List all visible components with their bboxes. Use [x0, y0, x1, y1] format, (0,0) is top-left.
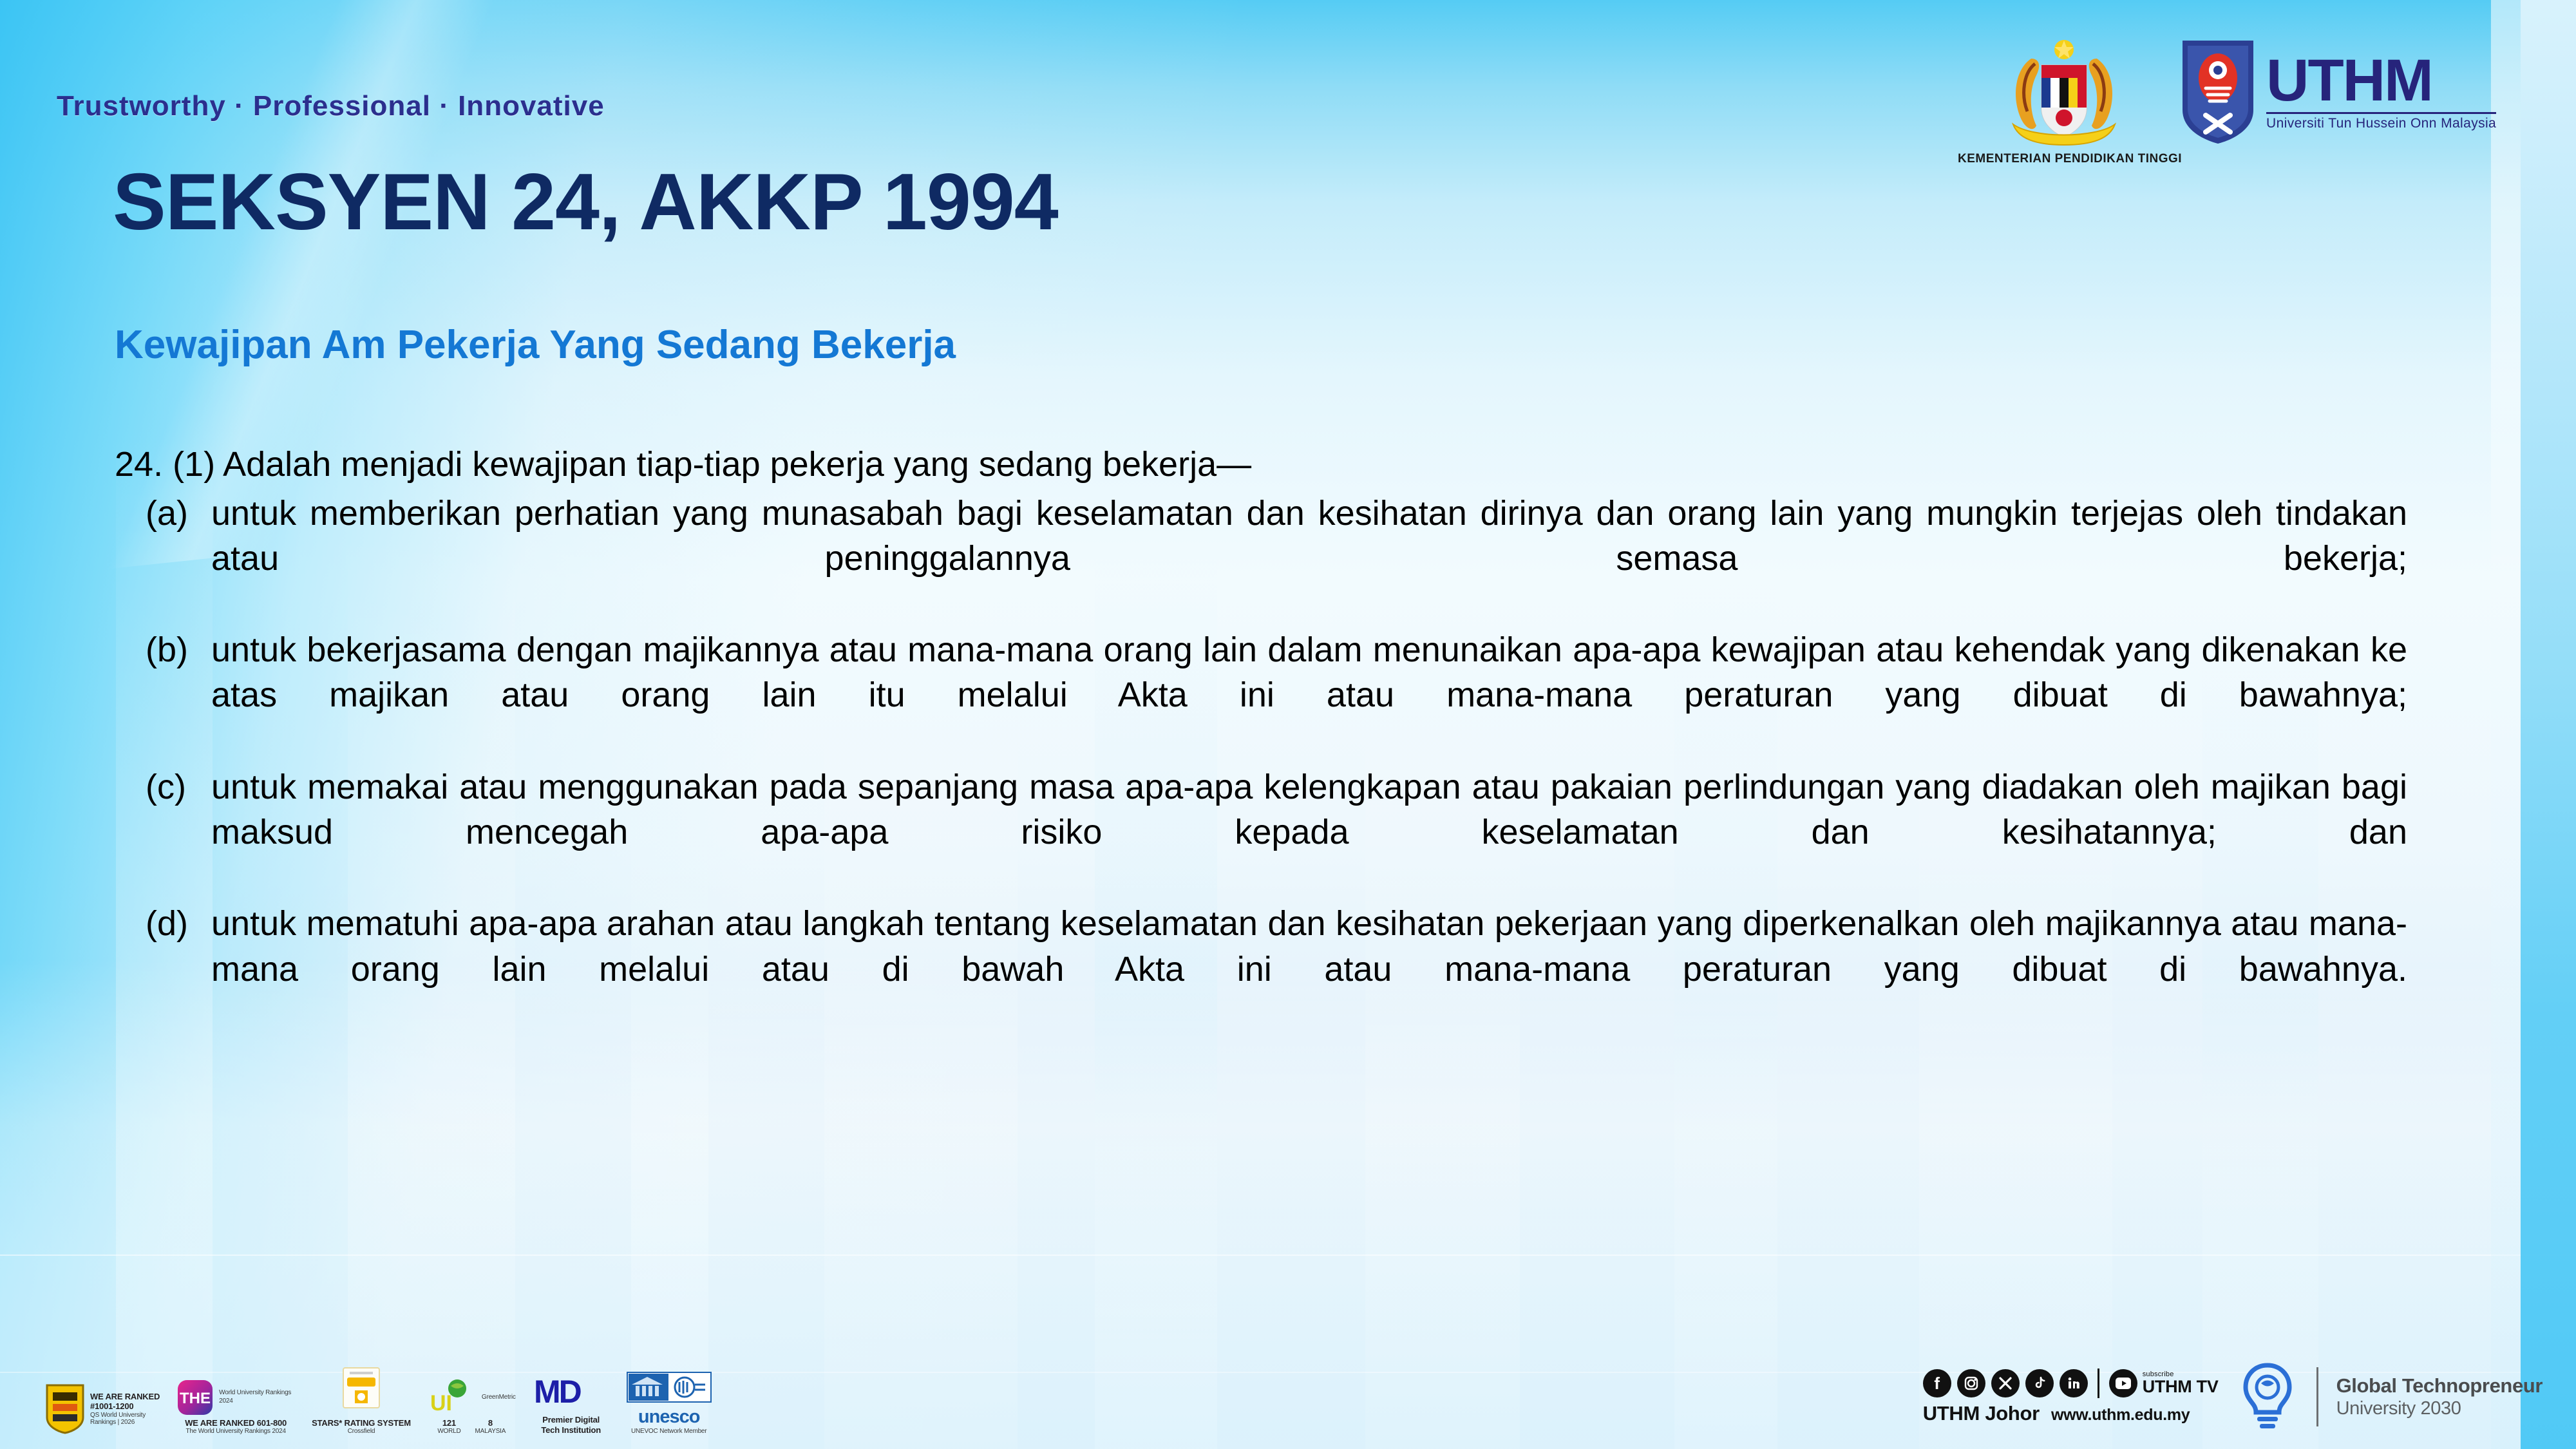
- stars-rating-icon: [341, 1365, 382, 1413]
- uthm-tv-link[interactable]: subscribe UTHM TV: [2109, 1369, 2219, 1397]
- greenmetric-label-world: WORLD: [437, 1428, 460, 1435]
- clause-lead: 24. (1) Adalah menjadi kewajipan tiap-ti…: [115, 444, 2407, 486]
- stars-line2: Crossfield: [312, 1428, 411, 1435]
- footer-social-group: f subscr: [1923, 1361, 2543, 1432]
- stars-rating-badge: STARS* RATING SYSTEM Crossfield: [312, 1365, 411, 1435]
- svg-text:MD: MD: [534, 1374, 582, 1410]
- facebook-icon[interactable]: f: [1923, 1369, 1951, 1397]
- clause-marker: (a): [115, 491, 211, 627]
- uthm-logo: UTHM Universiti Tun Hussein Onn Malaysia: [2180, 38, 2496, 146]
- qs-line4: Rankings | 2026: [90, 1419, 160, 1426]
- technopreneur-caption: Global Technopreneur University 2030: [2336, 1374, 2543, 1420]
- malaysia-coat-of-arms-logo: KEMENTERIAN PENDIDIKAN TINGGI: [1958, 35, 2170, 166]
- qs-shield-icon: [45, 1383, 85, 1435]
- footer-divider: [2098, 1368, 2099, 1398]
- clause-marker: (c): [115, 764, 211, 900]
- instagram-icon[interactable]: [1957, 1369, 1985, 1397]
- mdec-premier-digital-badge: MD Premier Digital Tech Institution: [533, 1374, 610, 1435]
- mdec-line2: Tech Institution: [533, 1425, 610, 1435]
- greenmetric-rank-world: 121: [437, 1418, 460, 1428]
- unesco-emblem-icon: [627, 1372, 712, 1403]
- stars-line1: STARS* RATING SYSTEM: [312, 1418, 411, 1428]
- mdec-line1: Premier Digital: [533, 1415, 610, 1425]
- footer-accreditation-badges: WE ARE RANKED #1001-1200 QS World Univer…: [45, 1365, 712, 1435]
- clause-text: untuk bekerjasama dengan majikannya atau…: [211, 627, 2407, 763]
- tiktok-icon[interactable]: [2025, 1369, 2054, 1397]
- slide-canvas: Trustworthy · Professional · Innovative: [0, 0, 2576, 1449]
- social-handle: UTHM Johor: [1923, 1402, 2040, 1425]
- clause-item: (c) untuk memakai atau menggunakan pada …: [115, 764, 2407, 900]
- qs-line1: WE ARE RANKED: [90, 1392, 160, 1401]
- institution-tagline: Trustworthy · Professional · Innovative: [57, 90, 605, 122]
- uthm-tv-label: UTHM TV: [2143, 1378, 2219, 1396]
- unesco-wordmark: unesco: [627, 1406, 712, 1428]
- youtube-icon[interactable]: [2109, 1369, 2137, 1397]
- the-line2: The World University Rankings 2024: [176, 1428, 295, 1435]
- clause-text: untuk memberikan perhatian yang munasaba…: [211, 491, 2407, 627]
- coat-of-arms-icon: [1996, 35, 2132, 146]
- background-right-inner-strip: [2491, 0, 2521, 1449]
- mdec-logo-icon: MD: [533, 1374, 610, 1410]
- logo-group: KEMENTERIAN PENDIDIKAN TINGGI UTHM Unive…: [1958, 35, 2550, 196]
- greenmetric-rank-malaysia: 8: [475, 1418, 506, 1428]
- greenmetric-mark-sub: GreenMetric: [482, 1394, 516, 1401]
- background-floor-line: [0, 1255, 2576, 1256]
- qs-line2: #1001-1200: [90, 1401, 160, 1411]
- the-line1: WE ARE RANKED 601-800: [176, 1418, 295, 1428]
- technopreneur-bulb-icon: [2237, 1361, 2298, 1432]
- the-logo-icon: THE: [176, 1379, 214, 1416]
- uthm-wordmark: UTHM: [2266, 53, 2496, 109]
- clause-marker: (d): [115, 901, 211, 1037]
- uthm-full-name: Universiti Tun Hussein Onn Malaysia: [2266, 116, 2496, 131]
- uthm-shield-icon: [2180, 38, 2256, 146]
- qs-line3: QS World University: [90, 1412, 160, 1419]
- clause-text: untuk memakai atau menggunakan pada sepa…: [211, 764, 2407, 900]
- background-right-strip: [2521, 0, 2576, 1449]
- clause-item: (d) untuk mematuhi apa-apa arahan atau l…: [115, 901, 2407, 1037]
- svg-text:THE: THE: [180, 1390, 211, 1407]
- footer-handle-row: UTHM Johor www.uthm.edu.my: [1923, 1402, 2219, 1425]
- the-mark-sub: World University Rankings 2024: [219, 1389, 295, 1405]
- greenmetric-globe-icon: UI: [428, 1378, 478, 1417]
- qs-badge-text: WE ARE RANKED #1001-1200 QS World Univer…: [90, 1392, 160, 1426]
- body-content: 24. (1) Adalah menjadi kewajipan tiap-ti…: [115, 444, 2407, 1038]
- qs-ranking-badge: WE ARE RANKED #1001-1200 QS World Univer…: [45, 1383, 160, 1435]
- website-url[interactable]: www.uthm.edu.my: [2051, 1406, 2190, 1425]
- technopreneur-line1: Global Technopreneur: [2336, 1374, 2543, 1397]
- page-title: SEKSYEN 24, AKKP 1994: [113, 156, 1058, 248]
- social-icon-row: f subscr: [1923, 1368, 2219, 1398]
- the-ranking-badge: THE World University Rankings 2024 WE AR…: [176, 1379, 295, 1435]
- clause-item: (b) untuk bekerjasama dengan majikannya …: [115, 627, 2407, 763]
- ui-greenmetric-badge: UI GreenMetric 121 WORLD 8 MALAYSIA: [428, 1378, 516, 1435]
- greenmetric-label-malaysia: MALAYSIA: [475, 1428, 506, 1435]
- svg-text:UI: UI: [430, 1391, 452, 1416]
- ministry-caption: KEMENTERIAN PENDIDIKAN TINGGI: [1958, 152, 2170, 166]
- page-subtitle: Kewajipan Am Pekerja Yang Sedang Bekerja: [115, 322, 956, 368]
- unesco-sub: UNEVOC Network Member: [627, 1428, 712, 1435]
- clause-marker: (b): [115, 627, 211, 763]
- x-twitter-icon[interactable]: [1991, 1369, 2020, 1397]
- linkedin-icon[interactable]: [2060, 1369, 2088, 1397]
- unesco-badge: unesco UNEVOC Network Member: [627, 1372, 712, 1435]
- clause-text: untuk mematuhi apa-apa arahan atau langk…: [211, 901, 2407, 1037]
- clause-item: (a) untuk memberikan perhatian yang muna…: [115, 491, 2407, 627]
- footer-divider: [2316, 1367, 2318, 1426]
- technopreneur-line2: University 2030: [2336, 1397, 2543, 1420]
